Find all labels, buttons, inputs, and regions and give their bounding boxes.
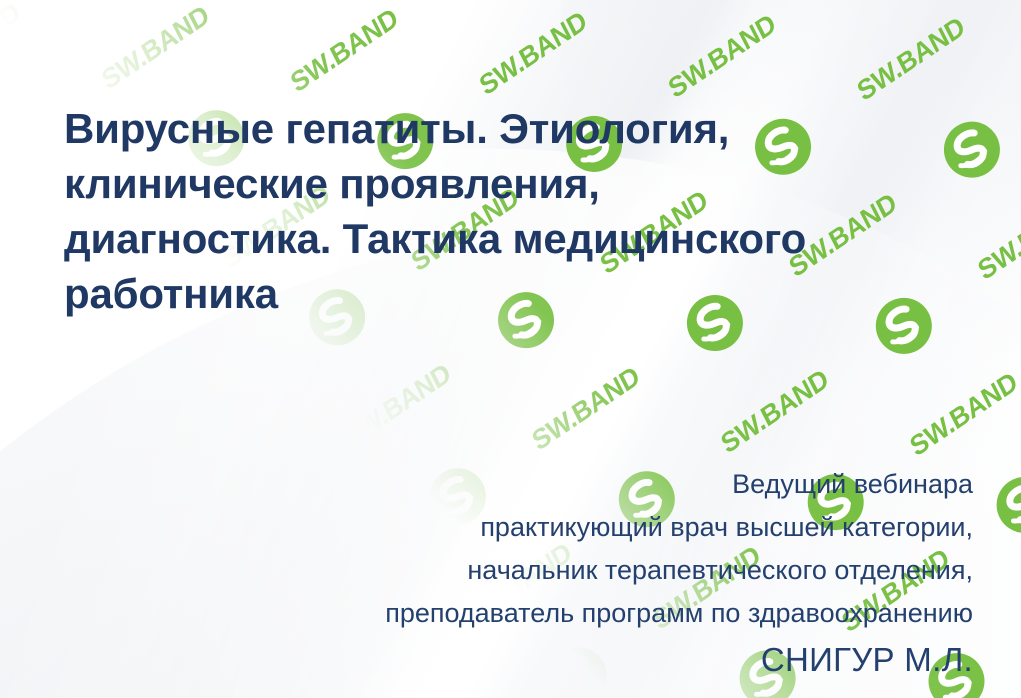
watermark-text-label: SW.BAND [96, 0, 213, 96]
watermark-text-label: SW.BAND [338, 357, 455, 454]
watermark-text: SW.BAND [1005, 0, 1021, 150]
watermark-logo-icon [944, 0, 1021, 61]
presenter-name: СНИГУР М.Л. [213, 635, 973, 685]
watermark-text: SW.BAND [0, 0, 60, 133]
watermark-text-label: SW.BAND [716, 363, 833, 460]
slide-title: Вирусные гепатиты. Этиология, клинически… [64, 101, 964, 321]
watermark-text-label: SW.BAND [852, 11, 969, 108]
watermark-text-label: SW.BAND [663, 8, 780, 105]
watermark-text-label: SW.BAND [474, 5, 591, 102]
watermark-text-label: SW.BAND [905, 366, 1021, 463]
watermark-text-label: SW.BAND [0, 528, 9, 625]
watermark-text: SW.BAND [0, 488, 45, 664]
watermark-logo-icon [0, 402, 173, 578]
watermark-logo-icon [0, 0, 189, 46]
presenter-role-line-2: практикующий врач высшей категории, [213, 506, 973, 549]
presenter-role-line-3: начальник терапевтического отделения, [213, 549, 973, 592]
presenter-info: Ведущий вебинара практикующий врач высше… [213, 463, 973, 685]
watermark-text-label: SW.BAND [149, 355, 266, 452]
title-line-3: диагностика. Тактика медицинского [64, 211, 964, 266]
watermark-logo-icon [378, 0, 567, 52]
watermark-logo-icon [0, 223, 53, 399]
watermark-text-label: SW.BAND [81, 531, 198, 628]
watermark-logo-icon [997, 240, 1021, 416]
watermark-logo-icon [756, 0, 945, 58]
presentation-slide: SW.BANDSW.BANDSW.BANDSW.BANDSW.BANDSW.BA… [0, 0, 1021, 698]
watermark-text: SW.BAND [45, 491, 234, 667]
watermark-text-label: SW.BAND [973, 190, 1021, 287]
watermark-logo-icon [567, 0, 756, 55]
presenter-role-line-4: преподаватель программ по здравоохранени… [213, 592, 973, 635]
watermark-text-label: SW.BAND [0, 0, 24, 94]
watermark-text-label: SW.BAND [0, 352, 77, 449]
watermark-text: SW.BAND [0, 312, 113, 488]
title-line-2: клинические проявления, [64, 156, 964, 211]
watermark-text: SW.BAND [0, 667, 166, 698]
watermark-text-label: SW.BAND [285, 2, 402, 99]
watermark-logo-icon [0, 578, 105, 698]
presenter-role-line-1: Ведущий вебинара [213, 463, 973, 506]
title-line-1: Вирусные гепатиты. Этиология, [64, 101, 964, 156]
title-line-4: работника [64, 266, 964, 321]
watermark-logo-icon [189, 0, 378, 49]
watermark-text-label: SW.BAND [527, 360, 644, 457]
watermark-text: SW.BAND [989, 505, 1021, 681]
